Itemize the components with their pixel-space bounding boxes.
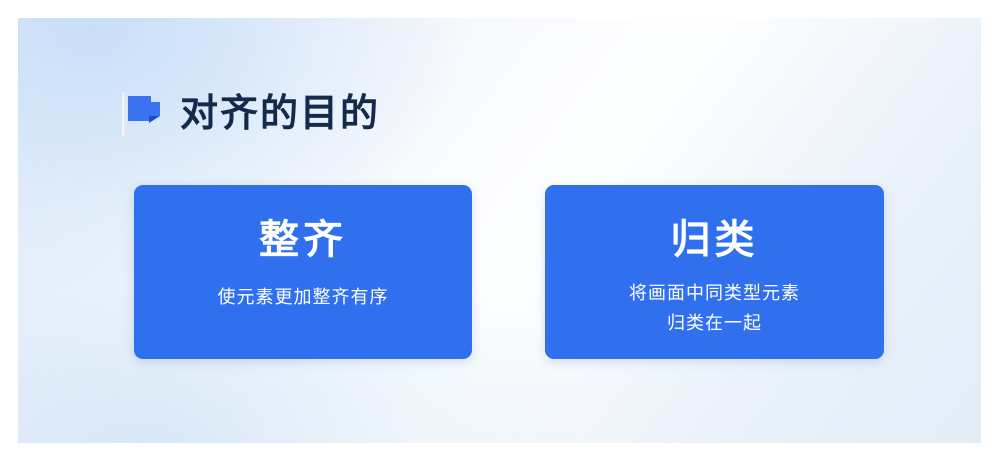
card-grouping[interactable]: 归类 将画面中同类型元素 归类在一起 (545, 185, 884, 359)
flag-icon (118, 90, 164, 138)
slide-content: 对齐的目的 整齐 使元素更加整齐有序 归类 将画面中同类型元素 归类在一起 (18, 18, 981, 443)
card-description: 使元素更加整齐有序 (218, 282, 389, 312)
page-title: 对齐的目的 (180, 95, 380, 133)
canvas-frame: 对齐的目的 整齐 使元素更加整齐有序 归类 将画面中同类型元素 归类在一起 (0, 0, 1000, 462)
card-neatness[interactable]: 整齐 使元素更加整齐有序 (134, 185, 472, 359)
slide-surface: 对齐的目的 整齐 使元素更加整齐有序 归类 将画面中同类型元素 归类在一起 (18, 18, 981, 443)
card-description: 将画面中同类型元素 归类在一起 (629, 278, 800, 338)
card-title: 整齐 (259, 220, 347, 260)
card-title: 归类 (671, 220, 759, 260)
page-heading: 对齐的目的 (118, 90, 380, 138)
